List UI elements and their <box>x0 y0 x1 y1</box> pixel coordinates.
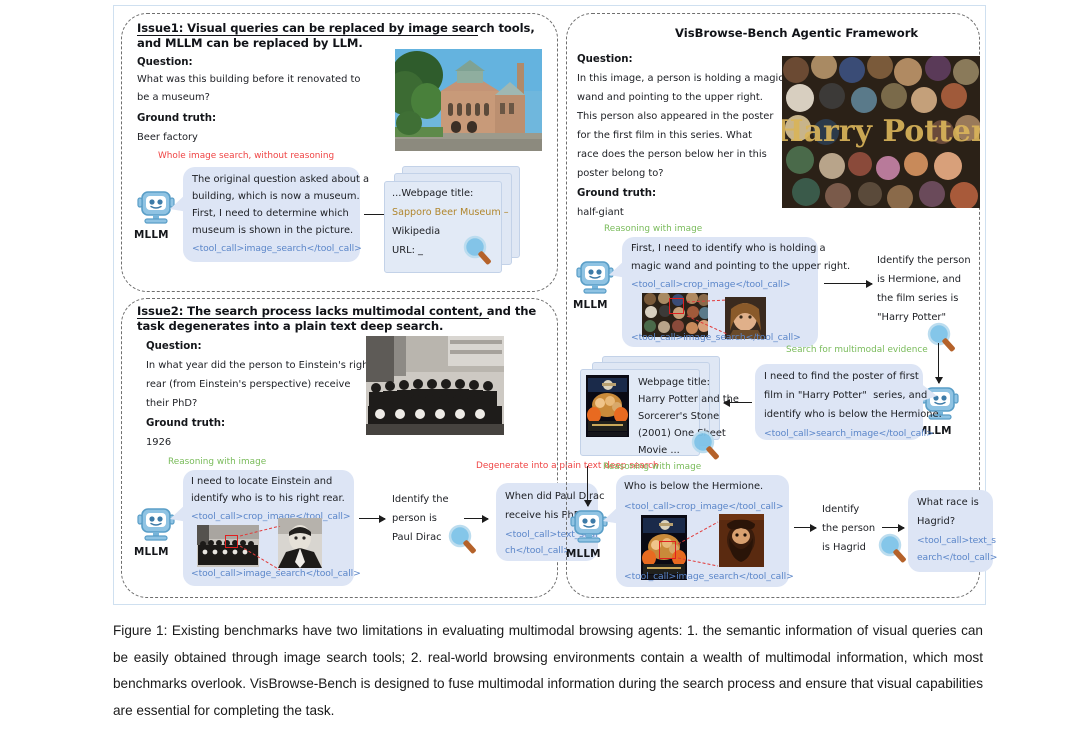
framework-step1-toolcall-crop: <tool_call>crop_image</tool_call> <box>631 280 790 289</box>
issue2-bubble-line2: identify who is to his right rear. <box>191 494 345 504</box>
framework-step1-result-line1: Identify the person <box>877 256 971 266</box>
framework-step1-note: Reasoning with image <box>604 225 702 234</box>
framework-question-line3: This person also appeared in the poster <box>577 112 773 122</box>
framework-step3-bubble-line1: Who is below the Hermione. <box>624 482 763 492</box>
issue1-question-label: Question: <box>137 58 193 68</box>
issue1-note: Whole image search, without reasoning <box>158 152 334 161</box>
framework-question-line6: poster belong to? <box>577 169 664 179</box>
issue2-heading-underline <box>137 318 489 319</box>
framework-step2-bubble-line3: identify who is below the Hermione. <box>764 410 942 420</box>
issue1-bubble-line1: The original question asked about a <box>192 175 369 185</box>
framework-step2-card-line5: Movie ... <box>638 446 680 456</box>
framework-step1-bubble-tail <box>609 258 627 284</box>
issue1-result-line2: Sapporo Beer Museum – <box>392 208 509 218</box>
issue1-heading-line2: and MLLM can be replaced by LLM. <box>137 38 363 50</box>
figure-caption: Figure 1: Existing benchmarks have two l… <box>113 618 983 724</box>
issue2-groundtruth-value: 1926 <box>146 438 171 448</box>
issue1-agent-label: MLLM <box>134 230 169 240</box>
issue1-question-line1: What was this building before it renovat… <box>137 75 360 85</box>
issue1-result-line4: URL: _ <box>392 246 423 256</box>
issue1-bubble-line2: building, which is now a museum. <box>192 192 360 202</box>
framework-step3-mid-line3: is Hagrid <box>822 543 866 553</box>
issue2-bubble-toolcall-search: <tool_call>image_search</tool_call> <box>191 569 361 578</box>
issue1-groundtruth-value: Beer factory <box>137 133 198 143</box>
issue1-result-card-stack <box>376 166 544 276</box>
framework-step1-magnifier-icon <box>926 322 960 356</box>
issue2-question-line2: rear (from Einstein's perspective) recei… <box>146 380 350 390</box>
issue2-groundtruth-label: Ground truth: <box>146 419 225 429</box>
framework-step1-result-line3: the film series is <box>877 294 958 304</box>
framework-step3-toolcall-crop: <tool_call>crop_image</tool_call> <box>624 502 783 511</box>
issue2-mid-line2: person is <box>392 514 437 524</box>
framework-groundtruth-label: Ground truth: <box>577 189 656 199</box>
framework-question-line2: wand and pointing to the upper right. <box>577 93 763 103</box>
issue1-bubble-tail <box>170 192 188 218</box>
framework-question-label: Question: <box>577 55 633 65</box>
issue1-bubble-line4: museum is shown in the picture. <box>192 226 353 236</box>
framework-step3-right-line1: What race is <box>917 498 979 508</box>
framework-step3-crop-link-lines <box>670 518 724 574</box>
issue2-arrow-1 <box>359 518 385 519</box>
framework-step1-toolcall-search: <tool_call>image_search</tool_call> <box>631 333 801 342</box>
issue2-question-label: Question: <box>146 342 202 352</box>
svg-text:Harry Potter: Harry Potter <box>782 114 980 149</box>
issue2-bubble-line1: I need to locate Einstein and <box>191 477 332 487</box>
building-photo-art <box>395 49 542 151</box>
issue2-right-toolcall-line2: ch</tool_call> <box>505 546 571 555</box>
collage-photo-art: Harry Potter <box>782 56 980 208</box>
issue2-question-line3: their PhD? <box>146 399 197 409</box>
issue2-question-line1: In what year did the person to Einstein'… <box>146 361 372 371</box>
issue1-building-photo <box>395 49 542 151</box>
framework-question-line5: race does the person below her in this <box>577 150 767 160</box>
framework-step1-bubble-line2: magic wand and pointing to the upper rig… <box>631 262 850 272</box>
issue1-bubble-line3: First, I need to determine which <box>192 209 349 219</box>
framework-step3-toolcall-search: <tool_call>image_search</tool_call> <box>624 572 794 581</box>
framework-collage-photo: Harry Potter <box>782 56 980 208</box>
framework-step2-to-step3-arrow <box>587 466 588 506</box>
framework-step2-card-line1: Webpage title: <box>638 378 710 388</box>
issue1-result-line3: Wikipedia <box>392 227 440 237</box>
framework-question-line4: for the first film in this series. What <box>577 131 752 141</box>
issue2-mid-line1: Identify the <box>392 495 449 505</box>
framework-step1-arrow <box>824 283 872 284</box>
issue2-arrow-2 <box>464 518 488 519</box>
issue2-note-green: Reasoning with image <box>168 458 266 467</box>
framework-step3-note: Reasoning with image <box>603 463 701 472</box>
framework-step2-poster-thumb <box>586 375 629 437</box>
framework-step3-bubble-tail <box>603 504 621 530</box>
issue2-bubble-toolcall-crop: <tool_call>crop_image</tool_call> <box>191 512 350 521</box>
framework-step1-bubble-line1: First, I need to identify who is holding… <box>631 244 826 254</box>
issue2-mid-line3: Paul Dirac <box>392 533 442 543</box>
solvay-photo-art <box>366 336 504 435</box>
issue1-result-line1: ...Webpage title: <box>392 189 473 199</box>
figure-frame: Issue1: Visual queries can be replaced b… <box>113 5 986 605</box>
issue2-solvay-photo <box>366 336 504 435</box>
issue2-agent-label: MLLM <box>134 547 169 557</box>
issue2-magnifier-icon <box>447 524 481 558</box>
framework-step2-bubble-line2: film in "Harry Potter" series, and <box>764 391 927 401</box>
framework-step3-mid-line1: Identify <box>822 505 859 515</box>
framework-step2-bubble-line1: I need to find the poster of first <box>764 372 919 382</box>
framework-step3-agent-label: MLLM <box>566 549 601 559</box>
framework-step3-arrow-1 <box>794 527 816 528</box>
framework-step3-magnifier-icon <box>877 533 911 567</box>
framework-step3-right-toolcall-line2: earch</tool_call> <box>917 553 997 562</box>
framework-step2-magnifier-icon <box>690 430 724 464</box>
framework-step2-card-line3: Sorcerer's Stone <box>638 412 719 422</box>
framework-step3-arrow-2 <box>882 527 904 528</box>
framework-step3-right-line2: Hagrid? <box>917 517 955 527</box>
framework-question-line1: In this image, a person is holding a mag… <box>577 74 784 84</box>
issue1-bubble-toolcall: <tool_call>image_search</tool_call> <box>192 244 362 253</box>
framework-step3-mid-line2: the person <box>822 524 875 534</box>
framework-step2-card-line2: Harry Potter and the <box>638 395 739 405</box>
issue1-groundtruth-label: Ground truth: <box>137 114 216 124</box>
issue1-heading-line1: Issue1: Visual queries can be replaced b… <box>137 23 535 35</box>
framework-step1-agent-label: MLLM <box>573 300 608 310</box>
framework-step1-to-step2-arrow <box>938 343 939 383</box>
framework-step3-hagrid-crop <box>719 514 764 567</box>
framework-groundtruth-value: half-giant <box>577 208 624 218</box>
framework-step2-note: Search for multimodal evidence <box>786 346 928 355</box>
framework-step3-right-toolcall-line1: <tool_call>text_s <box>917 536 996 545</box>
issue1-question-line2: be a museum? <box>137 93 210 103</box>
figure-page: Issue1: Visual queries can be replaced b… <box>0 0 1080 745</box>
framework-step1-result-line2: is Hermione, and <box>877 275 961 285</box>
issue2-heading-line1: Issue2: The search process lacks multimo… <box>137 306 536 318</box>
framework-title: VisBrowse-Bench Agentic Framework <box>675 28 918 40</box>
framework-step2-toolcall: <tool_call>search_image</tool_call> <box>764 429 934 438</box>
issue2-heading-line2: task degenerates into a plain text deep … <box>137 321 443 333</box>
issue1-magnifier-icon <box>462 235 496 269</box>
issue2-bubble-tail <box>170 502 188 528</box>
issue1-heading-underline <box>137 35 478 36</box>
